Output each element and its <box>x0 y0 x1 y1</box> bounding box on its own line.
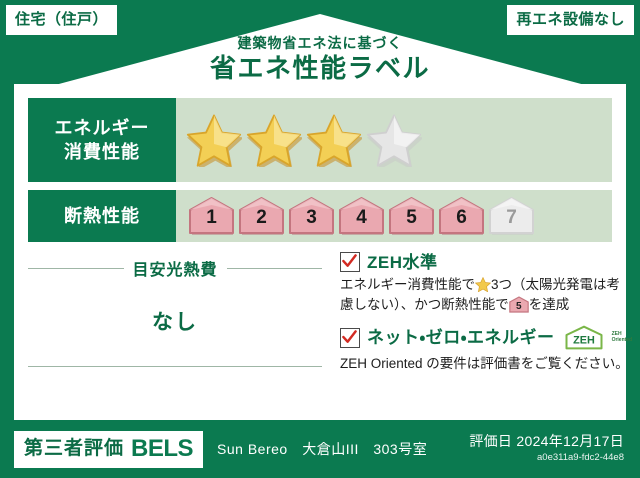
label-title-main: 省エネ性能ラベル <box>0 55 640 82</box>
insulation-performance-row: 断熱性能 1234567 <box>28 190 612 242</box>
checkbox-checked-icon <box>340 252 360 272</box>
insulation-level-off: 7 <box>488 196 535 236</box>
insulation-level-value: 3 <box>306 208 317 236</box>
lower-section: 目安光熱費 なし <box>28 252 612 383</box>
tag-housing-type: 住宅（住戸） <box>6 5 117 35</box>
insulation-level-scale: 1234567 <box>188 196 535 236</box>
zeh-logo-caption: ZEH Oriented <box>612 332 633 343</box>
zeh-desc-part3: を達成 <box>529 297 570 312</box>
star-filled-icon <box>306 113 362 167</box>
label-footer: 第三者評価 BELS Sun Bereo 大倉山III 303号室 評価日 20… <box>0 420 640 478</box>
label-title: 建築物省エネ法に基づく 省エネ性能ラベル <box>0 36 640 82</box>
insulation-level-value: 6 <box>456 208 467 236</box>
bels-badge-jp: 第三者評価 <box>24 439 124 458</box>
insulation-performance-label: 断熱性能 <box>28 190 176 242</box>
insulation-level-on: 1 <box>188 196 235 236</box>
evaluation-id: a0e311a9-fdc2-44e8 <box>469 452 624 464</box>
zeh-logo-caption-line2: Oriented <box>612 337 633 343</box>
star-empty-icon <box>366 113 422 167</box>
svg-text:ZEH: ZEH <box>573 334 595 346</box>
net-zero-title: ネット・ゼロ・エネルギー <box>367 329 555 346</box>
rule-left <box>28 268 124 269</box>
zeh-level-block: ZEH水準 エネルギー消費性能で 3つ（太陽光発電は考慮しない）、かつ断熱性能で… <box>340 252 632 316</box>
building-name: Sun Bereo 大倉山III 303号室 <box>217 439 427 459</box>
insulation-level-value: 4 <box>356 208 367 236</box>
checkbox-checked-icon <box>340 328 360 348</box>
evaluation-info: 評価日 2024年12月17日 a0e311a9-fdc2-44e8 <box>469 433 624 464</box>
tag-renewable-energy: 再エネ設備なし <box>507 5 634 35</box>
insulation-level-value: 2 <box>256 208 267 236</box>
energy-performance-label: エネルギー 消費性能 <box>28 98 176 182</box>
energy-performance-label-line2: 消費性能 <box>55 140 150 164</box>
insulation-badge-icon: 5 <box>509 296 529 313</box>
energy-performance-label: 建築物省エネ法に基づく 省エネ性能ラベル 住宅（住戸） 再エネ設備なし エネルギ… <box>0 0 640 478</box>
zeh-level-description: エネルギー消費性能で 3つ（太陽光発電は考慮しない）、かつ断熱性能で 5を達成 <box>340 275 632 316</box>
zeh-desc-part1: エネルギー消費性能で <box>340 277 475 292</box>
net-zero-block: ネット・ゼロ・エネルギー ZEH ZEH Oriented <box>340 325 632 374</box>
star-icon <box>475 277 491 293</box>
energy-performance-label-line1: エネルギー <box>55 116 150 140</box>
insulation-badge-value: 5 <box>509 302 529 312</box>
utility-cost-bottom-rule <box>28 366 322 367</box>
insulation-level-value: 7 <box>506 208 517 236</box>
bels-badge: 第三者評価 BELS <box>14 431 203 468</box>
star-rating <box>186 113 422 167</box>
energy-performance-row: エネルギー 消費性能 <box>28 98 612 182</box>
insulation-level-value: 5 <box>406 208 417 236</box>
insulation-performance-value: 1234567 <box>176 190 612 242</box>
star-filled-icon <box>186 113 242 167</box>
label-body-panel: エネルギー 消費性能 断熱性能 1234567 <box>14 84 626 420</box>
insulation-level-value: 1 <box>206 208 217 236</box>
utility-cost-block: 目安光熱費 なし <box>28 252 334 383</box>
star-filled-icon <box>246 113 302 167</box>
energy-performance-value <box>176 98 612 182</box>
label-title-sub: 建築物省エネ法に基づく <box>0 36 640 50</box>
insulation-level-on: 6 <box>438 196 485 236</box>
rule-right <box>227 268 323 269</box>
zeh-info-block: ZEH水準 エネルギー消費性能で 3つ（太陽光発電は考慮しない）、かつ断熱性能で… <box>334 252 632 383</box>
evaluation-date: 評価日 2024年12月17日 <box>469 433 624 450</box>
insulation-level-on: 5 <box>388 196 435 236</box>
utility-cost-value: なし <box>28 280 322 336</box>
zeh-logo-icon: ZEH <box>564 325 604 351</box>
insulation-level-on: 3 <box>288 196 335 236</box>
utility-cost-caption: 目安光熱費 <box>124 256 227 280</box>
net-zero-description: ZEH Oriented の要件は評価書をご覧ください。 <box>340 354 632 374</box>
insulation-level-on: 4 <box>338 196 385 236</box>
insulation-level-on: 2 <box>238 196 285 236</box>
zeh-level-heading: ZEH水準 <box>340 252 632 272</box>
bels-badge-en: BELS <box>131 437 193 461</box>
zeh-level-title: ZEH水準 <box>367 254 438 271</box>
utility-cost-heading: 目安光熱費 <box>28 256 322 280</box>
net-zero-heading: ネット・ゼロ・エネルギー ZEH ZEH Oriented <box>340 325 632 351</box>
